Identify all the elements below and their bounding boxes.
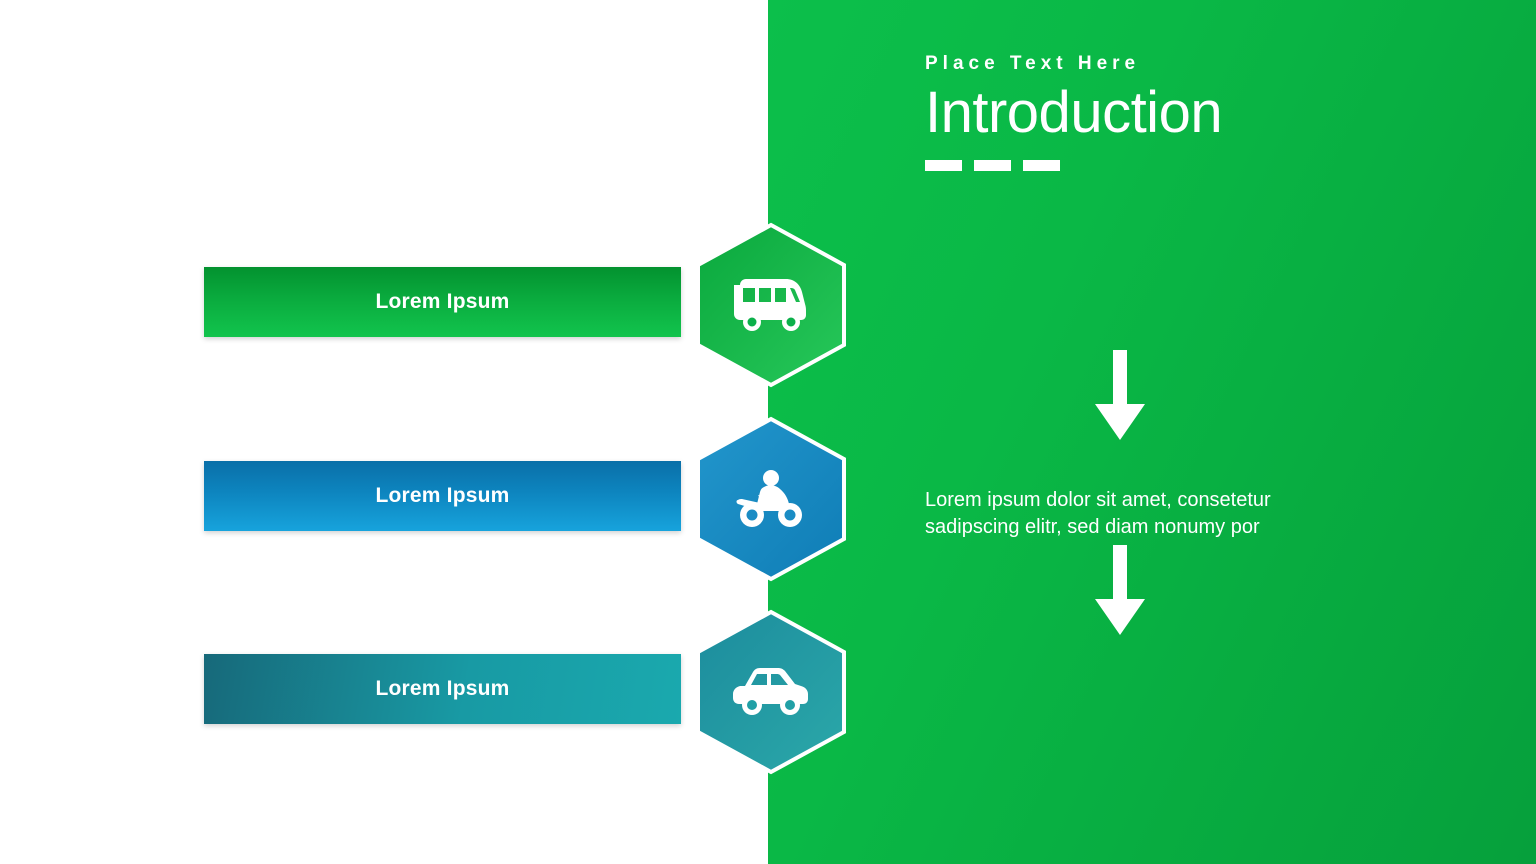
car-icon [691,607,851,777]
divider-dash [974,160,1011,171]
eyebrow-text: Place Text Here [925,54,1485,73]
header-block: Place Text Here Introduction [925,54,1485,171]
hexagon-badge-3[interactable] [691,607,851,777]
bar-label: Lorem Ipsum [375,677,509,701]
divider-dash [925,160,962,171]
bus-icon [691,220,851,390]
content-row: Lorem Ipsum [0,602,1536,772]
label-bar-1[interactable]: Lorem Ipsum [204,267,681,337]
slide-canvas: Place Text Here Introduction Lorem Ipsum [0,0,1536,864]
atv-rider-icon [691,414,851,584]
label-bar-2[interactable]: Lorem Ipsum [204,461,681,531]
hexagon-badge-2[interactable] [691,414,851,584]
bar-label: Lorem Ipsum [375,290,509,314]
content-row: Lorem Ipsum [0,409,1536,579]
hexagon-badge-1[interactable] [691,220,851,390]
bar-label: Lorem Ipsum [375,484,509,508]
divider-dash [1023,160,1060,171]
label-bar-3[interactable]: Lorem Ipsum [204,654,681,724]
page-title: Introduction [925,83,1485,144]
dash-divider [925,160,1485,171]
content-row: Lorem Ipsum [0,215,1536,385]
